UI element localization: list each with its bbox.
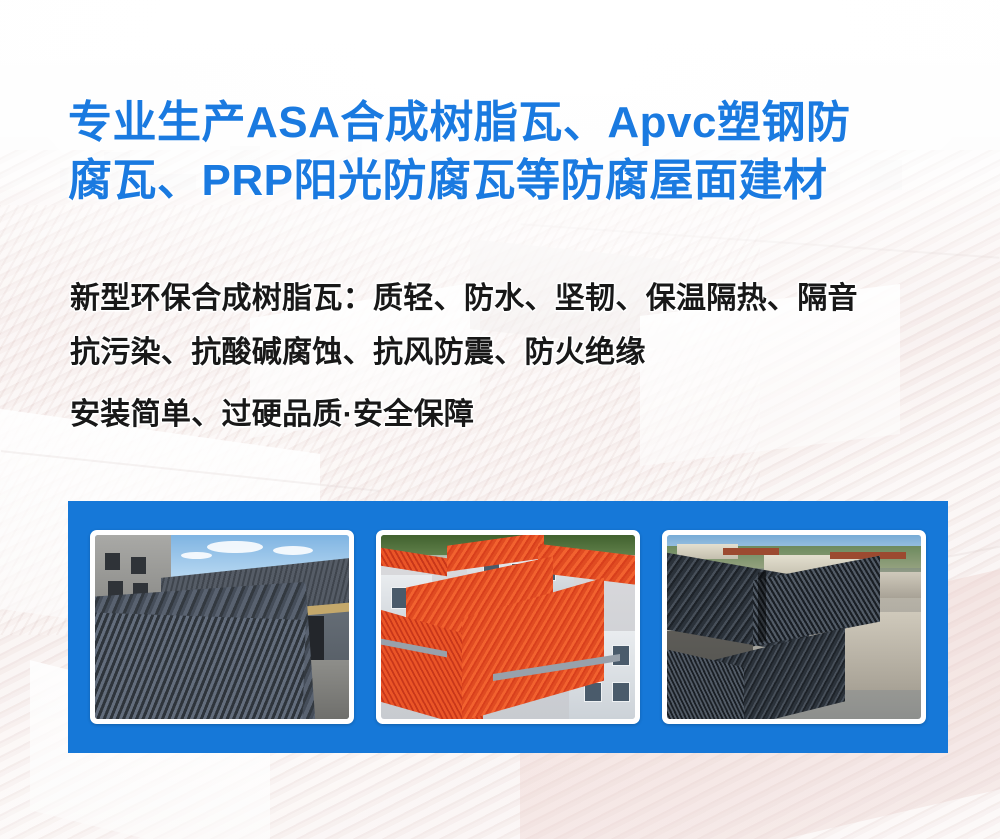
- headline: 专业生产ASA合成树脂瓦、Apvc塑钢防 腐瓦、PRP阳光防腐瓦等防腐屋面建材: [68, 94, 948, 210]
- subtitle-line-3: 安装简单、过硬品质·安全保障: [70, 388, 970, 442]
- product-photo-strip: [68, 501, 948, 753]
- headline-line-1: 专业生产ASA合成树脂瓦、Apvc塑钢防: [68, 94, 948, 152]
- headline-line-2: 腐瓦、PRP阳光防腐瓦等防腐屋面建材: [68, 152, 948, 210]
- promo-poster: 专业生产ASA合成树脂瓦、Apvc塑钢防 腐瓦、PRP阳光防腐瓦等防腐屋面建材 …: [0, 0, 1000, 839]
- photo-frame-3[interactable]: [662, 530, 926, 724]
- photo-frame-1[interactable]: [90, 530, 354, 724]
- subtitle-block: 新型环保合成树脂瓦：质轻、防水、坚韧、保温隔热、隔音 抗污染、抗酸碱腐蚀、抗风防…: [70, 272, 970, 442]
- photo-red-resin-tile-roof: [381, 535, 635, 719]
- photo-frame-2[interactable]: [376, 530, 640, 724]
- photo-grey-resin-tile-roof: [95, 535, 349, 719]
- subtitle-line-2: 抗污染、抗酸碱腐蚀、抗风防震、防火绝缘: [70, 326, 970, 380]
- photo-black-resin-tile-roof: [667, 535, 921, 719]
- subtitle-line-1: 新型环保合成树脂瓦：质轻、防水、坚韧、保温隔热、隔音: [70, 272, 970, 326]
